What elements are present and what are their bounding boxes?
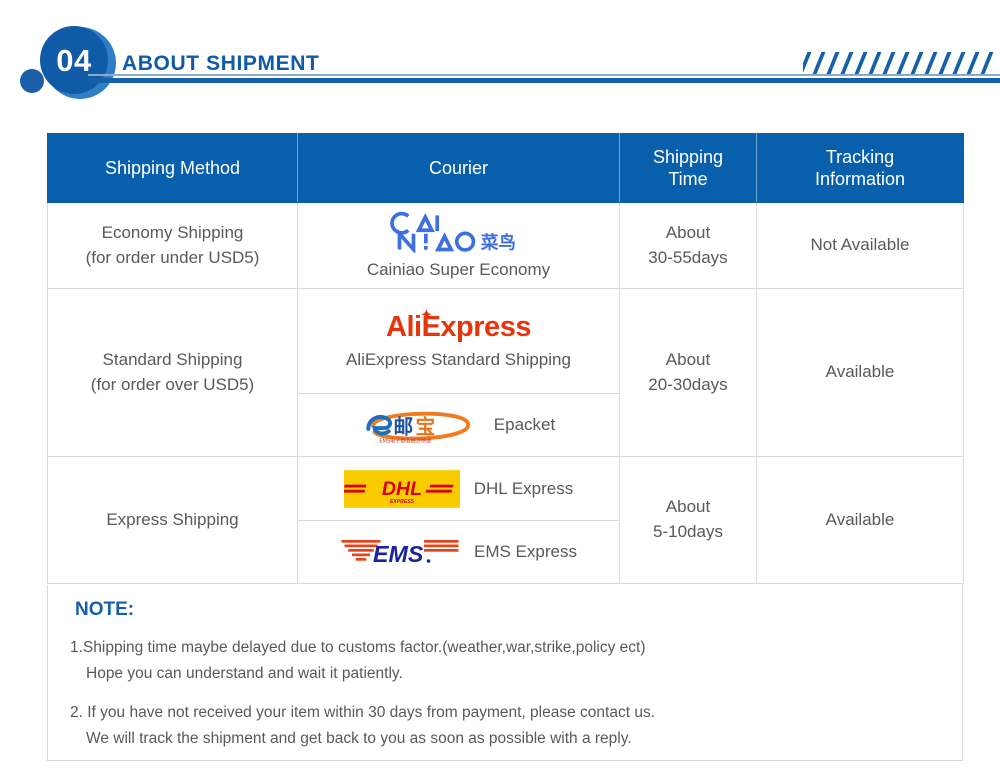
column-header-tracking-line1: Tracking (826, 147, 894, 167)
table-row: Standard Shipping (for order over USD5) … (48, 289, 964, 457)
shipment-info-page: 04 ABOUT SHIPMENT Shipping Method Courie… (0, 0, 1000, 783)
table-row: Express Shipping (48, 457, 964, 584)
column-header-shipping-method: Shipping Method (48, 134, 298, 203)
aliexpress-logo: ✦ AliExpress (386, 313, 531, 342)
method-line1: Express Shipping (52, 508, 293, 533)
note-section: NOTE: 1.Shipping time maybe delayed due … (47, 585, 963, 761)
column-header-shipping-time-line1: Shipping (653, 147, 723, 167)
time-line1: About (624, 221, 752, 246)
cell-courier-express: DHL EXPRESS DHL Express (298, 457, 620, 584)
stripe (825, 52, 841, 74)
stripe (811, 52, 827, 74)
aliexpress-star-icon: ✦ (421, 308, 431, 321)
cell-shipping-time-economy: About 30-55days (620, 203, 757, 289)
tracking-status: Available (757, 502, 963, 539)
decorative-stripes (803, 52, 997, 74)
badge-accent-dot (20, 69, 44, 93)
stripe (895, 52, 911, 74)
cell-shipping-method-standard: Standard Shipping (for order over USD5) (48, 289, 298, 457)
ems-logo: EMS (340, 533, 460, 571)
stripe (979, 52, 995, 74)
stripe (937, 52, 953, 74)
cell-courier-economy: 菜鸟 Cainiao Super Economy (298, 203, 620, 289)
column-header-shipping-time: Shipping Time (620, 134, 757, 203)
column-header-courier: Courier (298, 134, 620, 203)
time-line2: 20-30days (624, 373, 752, 398)
courier-caption: EMS Express (474, 542, 577, 562)
method-line2: (for order under USD5) (52, 246, 293, 271)
shipping-methods-table: Shipping Method Courier Shipping Time Tr… (47, 133, 964, 584)
note-item-2-line1: 2. If you have not received your item wi… (70, 704, 655, 721)
courier-aliexpress: ✦ AliExpress AliExpress Standard Shippin… (298, 289, 619, 394)
column-header-tracking-line2: Information (815, 169, 905, 189)
stripe (881, 52, 897, 74)
cell-shipping-time-standard: About 20-30days (620, 289, 757, 457)
courier-caption: DHL Express (474, 479, 574, 499)
time-line1: About (624, 495, 752, 520)
method-line1: Economy Shipping (52, 221, 293, 246)
section-number: 04 (56, 45, 91, 76)
header-rule-thin (88, 74, 1000, 76)
note-item-1: 1.Shipping time maybe delayed due to cus… (70, 635, 942, 686)
dhl-logo-sub: EXPRESS (390, 498, 415, 504)
time-line2: 30-55days (624, 246, 752, 271)
epacket-cjk-first: 邮 (393, 416, 413, 439)
epacket-cjk-second: 宝 (415, 416, 435, 439)
table-header-row: Shipping Method Courier Shipping Time Tr… (48, 134, 964, 203)
epacket-tagline: EMS电子商务经济快递 (379, 437, 431, 444)
page-title: ABOUT SHIPMENT (122, 52, 319, 76)
stripe (965, 52, 981, 74)
header-rule-thick (88, 78, 1000, 83)
tracking-status: Not Available (757, 227, 963, 264)
cell-shipping-time-express: About 5-10days (620, 457, 757, 584)
stripe (839, 52, 855, 74)
column-header-shipping-time-line2: Time (668, 169, 707, 189)
stripe (867, 52, 883, 74)
courier-caption: Epacket (494, 415, 555, 435)
stripe (923, 52, 939, 74)
cell-shipping-method-economy: Economy Shipping (for order under USD5) (48, 203, 298, 289)
cainiao-logo: 菜鸟 (389, 211, 529, 253)
dhl-logo: DHL EXPRESS (344, 470, 460, 508)
note-item-1-line1: 1.Shipping time maybe delayed due to cus… (70, 639, 646, 656)
time-line1: About (624, 348, 752, 373)
cell-courier-standard: ✦ AliExpress AliExpress Standard Shippin… (298, 289, 620, 457)
dhl-logo-text: DHL (382, 477, 422, 499)
page-header: 04 ABOUT SHIPMENT (0, 0, 1000, 118)
cainiao-cjk-text: 菜鸟 (479, 233, 515, 253)
courier-epacket: 邮 宝 EMS电子商务经济快递 Epacket (298, 394, 619, 456)
ems-logo-text: EMS (373, 541, 424, 567)
cell-tracking-express: Available (757, 457, 964, 584)
courier-caption: AliExpress Standard Shipping (346, 350, 571, 370)
tracking-status: Available (757, 354, 963, 391)
note-item-2-line2: We will track the shipment and get back … (70, 726, 942, 752)
method-line2: (for order over USD5) (52, 373, 293, 398)
courier-ems: EMS EMS Express (298, 521, 619, 583)
stripe (803, 52, 813, 74)
section-number-badge: 04 (18, 26, 138, 96)
courier-cainiao: 菜鸟 Cainiao Super Economy (298, 203, 619, 288)
cell-tracking-standard: Available (757, 289, 964, 457)
table-row: Economy Shipping (for order under USD5) (48, 203, 964, 289)
note-item-2: 2. If you have not received your item wi… (70, 700, 942, 751)
courier-caption: Cainiao Super Economy (367, 260, 550, 280)
note-title: NOTE: (75, 599, 942, 621)
stripe (951, 52, 967, 74)
stripe (853, 52, 869, 74)
note-item-1-line2: Hope you can understand and wait it pati… (70, 661, 942, 687)
badge-inner-circle: 04 (40, 26, 108, 94)
aliexpress-logo-text: AliExpress (386, 311, 531, 343)
cell-shipping-method-express: Express Shipping (48, 457, 298, 584)
column-header-tracking-information: Tracking Information (757, 134, 964, 203)
time-line2: 5-10days (624, 520, 752, 545)
cell-tracking-economy: Not Available (757, 203, 964, 289)
epacket-logo: 邮 宝 EMS电子商务经济快递 (362, 405, 480, 445)
stripe (909, 52, 925, 74)
courier-dhl: DHL EXPRESS DHL Express (298, 457, 619, 521)
method-line1: Standard Shipping (52, 348, 293, 373)
